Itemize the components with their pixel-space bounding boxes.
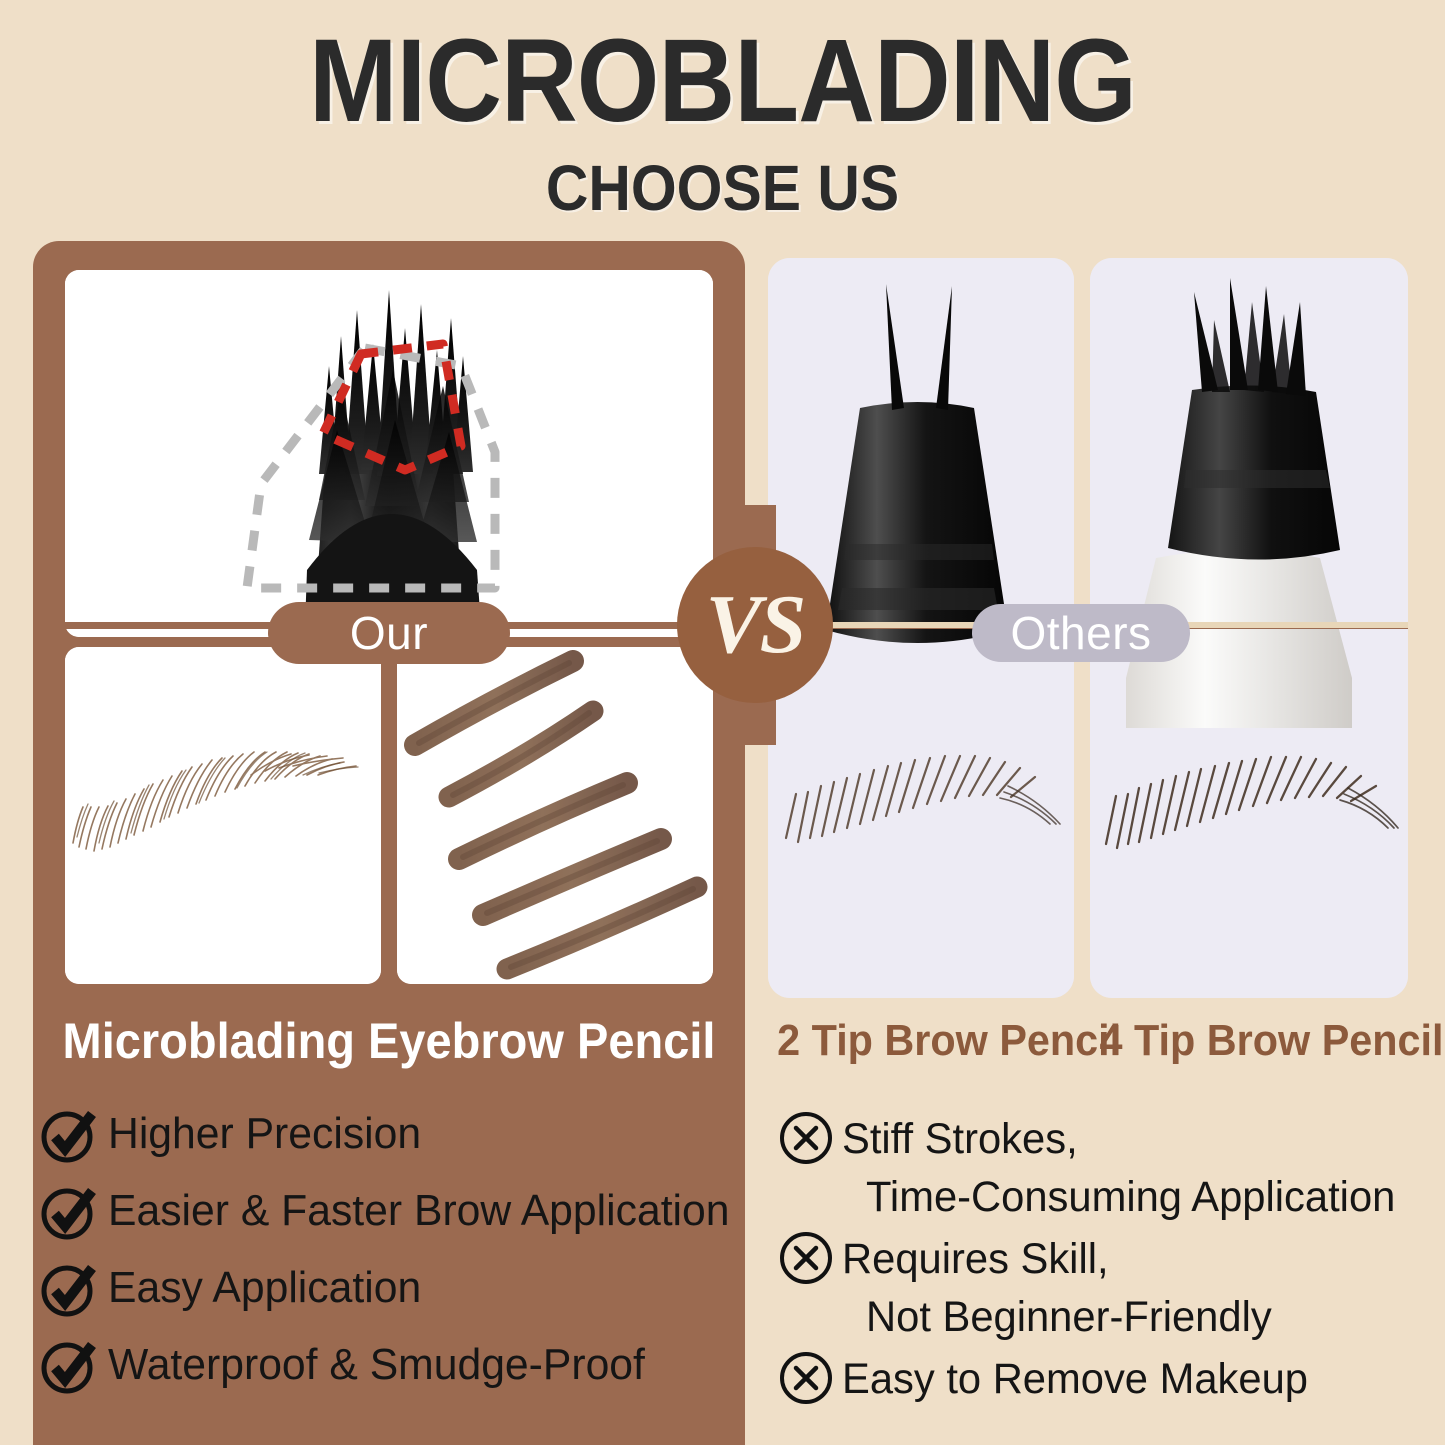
list-item: Stiff Strokes, Time-Consuming Applicatio… [778,1110,1428,1226]
drawback-label: Easy to Remove Makeup [842,1350,1308,1408]
our-product-caption: Microblading Eyebrow Pencil [54,1012,723,1070]
our-badge-label: Our [350,606,428,660]
pen-tip-illustration [65,270,713,637]
header: MICROBLADING CHOOSE US [0,22,1445,220]
feature-label: Higher Precision [108,1104,421,1164]
list-item: Easy Application [38,1258,738,1320]
x-circle-icon [778,1230,834,1286]
vs-badge: VS [677,547,833,703]
check-circle-icon [38,1258,100,1320]
drawback-lines: Easy to Remove Makeup [842,1350,1322,1408]
drawback-lines: Requires Skill, Not Beginner-Friendly [842,1230,1284,1346]
feature-label: Easier & Faster Brow Application [108,1181,730,1241]
list-item: Waterproof & Smudge-Proof [38,1335,738,1397]
list-item: Requires Skill, Not Beginner-Friendly [778,1230,1428,1346]
brow-hairstroke-illustration [65,647,381,984]
feature-label: Waterproof & Smudge-Proof [108,1335,645,1395]
page-title: MICROBLADING [72,22,1373,140]
microblading-pen-tip-image [65,270,713,637]
x-circle-icon [778,1350,834,1406]
drawback-label-cont: Not Beginner-Friendly [866,1288,1272,1346]
our-badge: Our [268,602,510,664]
drawback-lines: Stiff Strokes, Time-Consuming Applicatio… [842,1110,1412,1226]
list-item: Easy to Remove Makeup [778,1350,1428,1408]
infographic-canvas: MICROBLADING CHOOSE US [0,0,1445,1445]
x-circle-icon [778,1110,834,1166]
page-subtitle: CHOOSE US [58,156,1387,220]
our-brow-sample-image [65,647,381,984]
check-circle-icon [38,1181,100,1243]
pencil-color-swatches-image [397,647,713,984]
others-badge: Others [972,604,1190,662]
swatch-strokes-illustration [397,647,713,984]
check-circle-icon [38,1104,100,1166]
other-product-caption-2tip: 2 Tip Brow Pencil [777,1016,1065,1066]
feature-label: Easy Application [108,1258,421,1318]
vs-label: VS [706,583,805,667]
check-circle-icon [38,1335,100,1397]
drawback-label: Stiff Strokes, [842,1110,1395,1168]
list-item: Higher Precision [38,1104,738,1166]
our-feature-list: Higher Precision Easier & Faster Brow Ap… [38,1104,738,1412]
drawback-label-cont: Time-Consuming Application [866,1168,1395,1226]
list-item: Easier & Faster Brow Application [38,1181,738,1243]
others-drawback-list: Stiff Strokes, Time-Consuming Applicatio… [778,1110,1428,1412]
others-badge-label: Others [1010,606,1151,660]
drawback-label: Requires Skill, [842,1230,1271,1288]
other-product-caption-4tip: 4 Tip Brow Pencil [1100,1016,1399,1066]
